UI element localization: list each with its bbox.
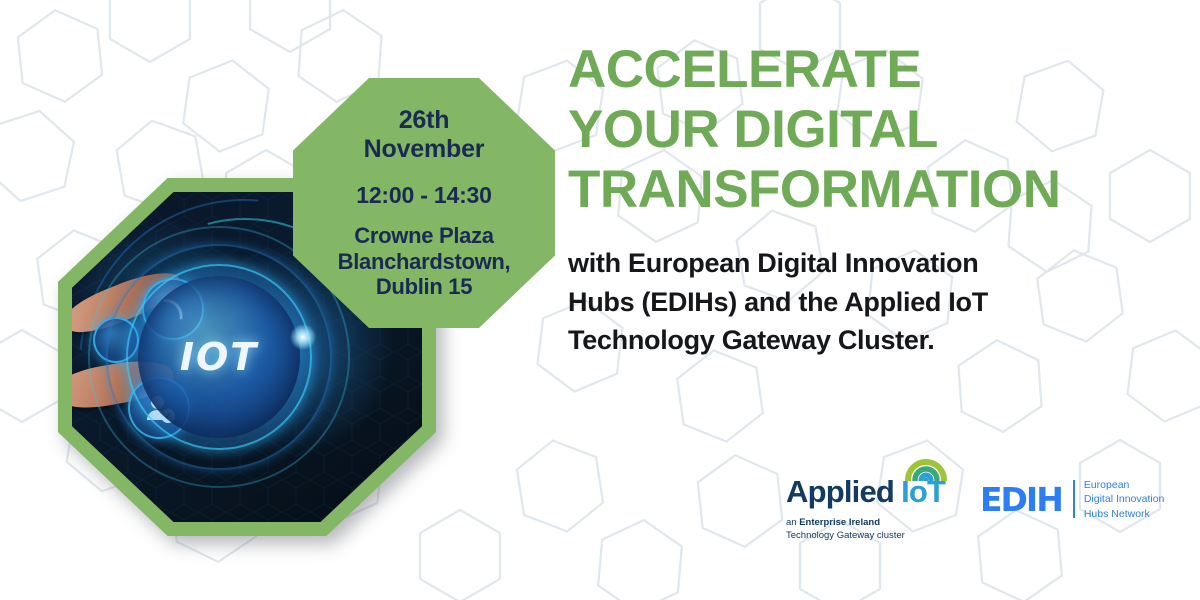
- event-venue-line2: Blanchardstown,: [338, 249, 511, 274]
- edih-subtitle: European Digital Innovation Hubs Network: [1084, 478, 1165, 521]
- event-date-line1: 26th: [399, 106, 450, 134]
- edih-subtitle-line3: Hubs Network: [1084, 507, 1165, 521]
- dial-glint: [290, 324, 316, 350]
- event-venue-line1: Crowne Plaza: [354, 223, 493, 248]
- edih-logo: EDIH European Digital Innovation Hubs Ne…: [980, 472, 1164, 521]
- event-details-badge: 26th November 12:00 - 14:30 Crowne Plaza…: [293, 78, 555, 328]
- page-subtitle: with European Digital Innovation Hubs (E…: [568, 244, 1168, 361]
- logo-row: Applied IoT an Enterprise Ireland Techno…: [786, 472, 1164, 542]
- wifi-signal-icon: [904, 455, 948, 481]
- tagline-line2: Technology Gateway cluster: [786, 530, 905, 541]
- subheading-line-3: Technology Gateway Cluster.: [568, 321, 1168, 360]
- headline-line-3: TRANSFORMATION: [568, 160, 1168, 220]
- banner-text-content: ACCELERATE YOUR DIGITAL TRANSFORMATION w…: [568, 40, 1168, 360]
- edih-divider: [1073, 480, 1075, 518]
- iot-dial-core: IOT: [138, 276, 300, 438]
- subheading-line-2: Hubs (EDIHs) and the Applied IoT: [568, 283, 1168, 322]
- page-title: ACCELERATE YOUR DIGITAL TRANSFORMATION: [568, 40, 1168, 220]
- headline-line-1: ACCELERATE: [568, 40, 1168, 100]
- event-time: 12:00 - 14:30: [356, 182, 492, 209]
- applied-iot-word-applied: Applied: [786, 472, 894, 512]
- tagline-prefix: an: [786, 517, 799, 528]
- edih-subtitle-line2: Digital Innovation: [1084, 492, 1165, 506]
- event-date-line2: November: [364, 135, 485, 163]
- applied-iot-logo: Applied IoT an Enterprise Ireland Techno…: [786, 472, 946, 542]
- event-date: 26th November: [364, 106, 485, 164]
- event-venue-line3: Dublin 15: [376, 274, 472, 299]
- tagline-bold: Enterprise Ireland: [799, 517, 880, 528]
- headline-line-2: YOUR DIGITAL: [568, 100, 1168, 160]
- event-venue: Crowne Plaza Blanchardstown, Dublin 15: [338, 223, 511, 301]
- edih-wordmark: EDIH: [980, 483, 1062, 516]
- iot-dial-label: IOT: [180, 335, 258, 379]
- iot-dial: IOT: [126, 264, 312, 450]
- applied-iot-tagline: an Enterprise Ireland Technology Gateway…: [786, 516, 946, 542]
- subheading-line-1: with European Digital Innovation: [568, 244, 1168, 283]
- edih-subtitle-line1: European: [1084, 478, 1165, 492]
- event-banner: ✓ IOT 26th November 12:00: [0, 0, 1200, 600]
